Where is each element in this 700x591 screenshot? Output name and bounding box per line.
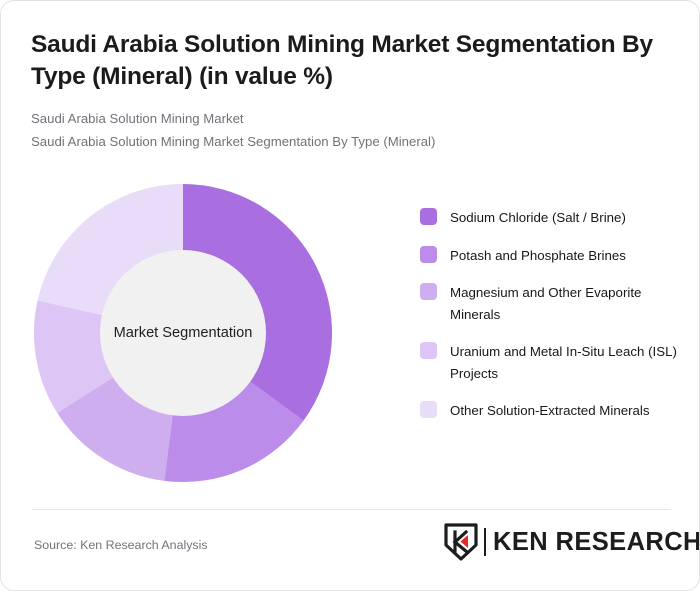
chart-header: Saudi Arabia Solution Mining Market Segm… <box>31 29 676 152</box>
legend-item-label: Sodium Chloride (Salt / Brine) <box>450 207 626 229</box>
chart-subtitle-segmentation: Saudi Arabia Solution Mining Market Segm… <box>31 132 676 153</box>
chart-subtitle-market: Saudi Arabia Solution Mining Market <box>31 109 676 130</box>
donut-chart-svg <box>24 174 342 492</box>
legend-item-label: Other Solution-Extracted Minerals <box>450 400 650 422</box>
donut-center-hole <box>100 250 266 416</box>
legend-item[interactable]: Sodium Chloride (Salt / Brine) <box>420 207 680 229</box>
brand-divider <box>484 528 486 556</box>
chart-card: Saudi Arabia Solution Mining Market Segm… <box>0 0 700 591</box>
chart-legend: Sodium Chloride (Salt / Brine)Potash and… <box>420 207 680 438</box>
legend-swatch-icon <box>420 401 437 418</box>
legend-item[interactable]: Magnesium and Other Evaporite Minerals <box>420 282 680 325</box>
donut-chart: Market Segmentation <box>24 174 342 492</box>
footer-divider <box>32 509 671 510</box>
source-note: Source: Ken Research Analysis <box>34 538 208 552</box>
legend-item[interactable]: Uranium and Metal In-Situ Leach (ISL) Pr… <box>420 341 680 384</box>
brand-name: KEN RESEARCH <box>493 528 700 557</box>
legend-swatch-icon <box>420 246 437 263</box>
legend-item[interactable]: Potash and Phosphate Brines <box>420 245 680 267</box>
legend-item[interactable]: Other Solution-Extracted Minerals <box>420 400 680 422</box>
legend-swatch-icon <box>420 342 437 359</box>
legend-swatch-icon <box>420 208 437 225</box>
page-title: Saudi Arabia Solution Mining Market Segm… <box>31 29 676 93</box>
ken-research-shield-icon <box>444 523 478 561</box>
brand-logo: KEN RESEARCH <box>444 522 700 562</box>
legend-swatch-icon <box>420 283 437 300</box>
legend-item-label: Uranium and Metal In-Situ Leach (ISL) Pr… <box>450 341 680 384</box>
legend-item-label: Potash and Phosphate Brines <box>450 245 626 267</box>
legend-item-label: Magnesium and Other Evaporite Minerals <box>450 282 680 325</box>
